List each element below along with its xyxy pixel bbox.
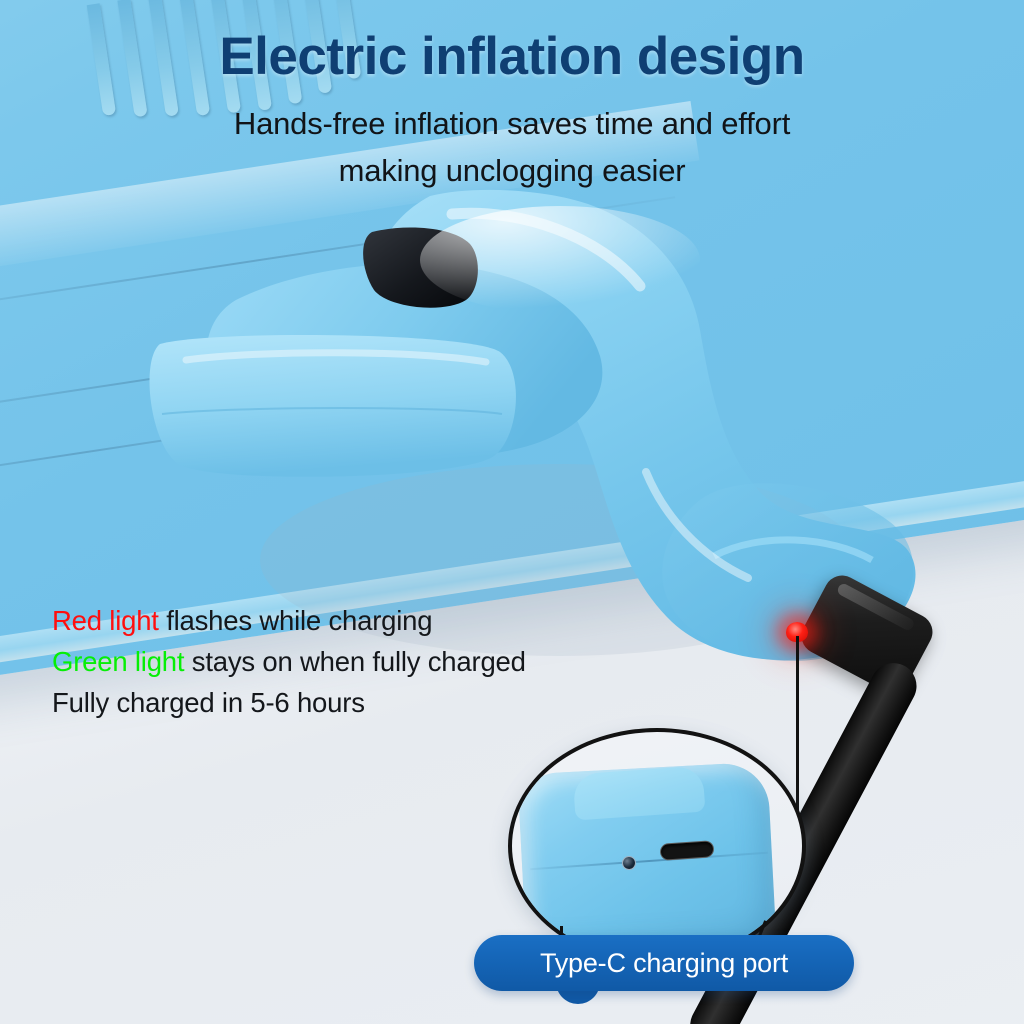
page-title: Electric inflation design bbox=[0, 26, 1024, 87]
badge-label: Type-C charging port bbox=[540, 948, 788, 979]
subtitle-line-1: Hands-free inflation saves time and effo… bbox=[0, 106, 1024, 142]
feature-green-highlight: Green light bbox=[52, 646, 184, 677]
detail-handle-top bbox=[573, 766, 706, 821]
status-badge: Type-C charging port bbox=[474, 935, 854, 991]
feature-item-red: Red light flashes while charging bbox=[52, 600, 526, 641]
specular-sheen bbox=[420, 206, 700, 314]
product-infographic: Electric inflation design Hands-free inf… bbox=[0, 0, 1024, 1024]
feature-red-text: flashes while charging bbox=[159, 605, 433, 636]
feature-item-green: Green light stays on when fully charged bbox=[52, 641, 526, 682]
subtitle-line-2: making unclogging easier bbox=[0, 153, 1024, 189]
feature-green-text: stays on when fully charged bbox=[184, 646, 525, 677]
feature-red-highlight: Red light bbox=[52, 605, 159, 636]
feature-item-charge-time: Fully charged in 5-6 hours bbox=[52, 682, 526, 723]
feature-list: Red light flashes while charging Green l… bbox=[52, 600, 526, 723]
